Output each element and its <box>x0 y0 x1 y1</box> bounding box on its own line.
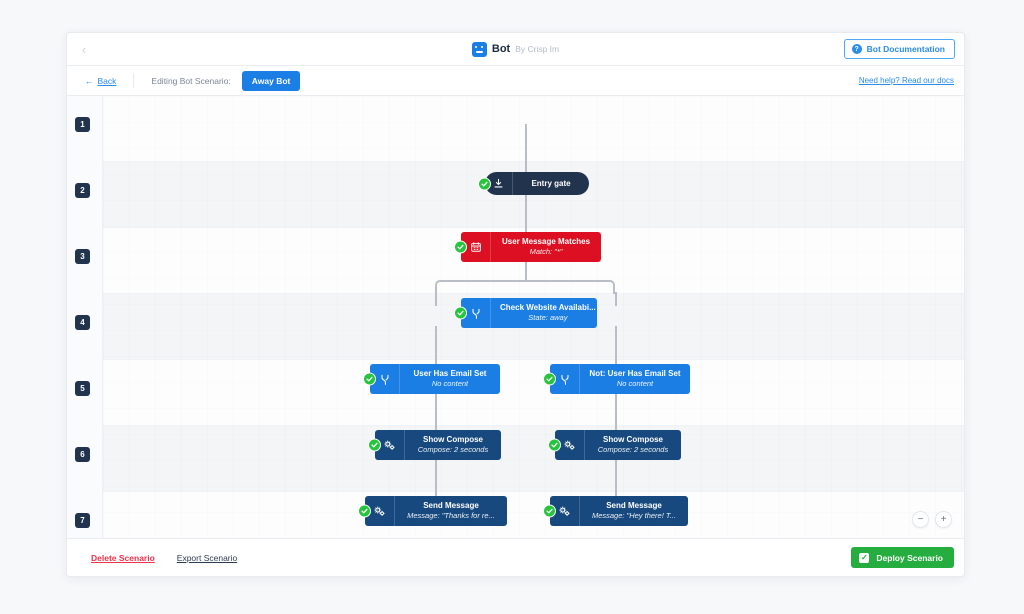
zoom-controls: − + <box>912 511 952 528</box>
row-band-1 <box>67 96 964 162</box>
node-subtitle: Compose: 2 seconds <box>598 445 668 455</box>
editor-footer: Delete Scenario Export Scenario ✓ Deploy… <box>67 538 964 576</box>
bot-documentation-label: Bot Documentation <box>867 44 945 54</box>
node-entry-gate[interactable]: Entry gate <box>485 172 589 195</box>
node-status-check-icon <box>368 439 381 452</box>
step-badge-7: 7 <box>75 513 90 528</box>
step-badge-1: 1 <box>75 117 90 132</box>
vertical-divider <box>133 73 134 88</box>
node-title: User Has Email Set <box>414 369 487 379</box>
node-body: Send Message Message: "Hey there! T... <box>580 496 688 526</box>
node-show-compose-right[interactable]: Show Compose Compose: 2 seconds <box>555 430 681 460</box>
scenario-canvas[interactable]: 1 2 3 4 5 6 7 <box>67 96 964 538</box>
node-subtitle: No content <box>617 379 653 389</box>
node-status-check-icon <box>358 505 371 518</box>
node-not-user-has-email-set[interactable]: Not: User Has Email Set No content <box>550 364 690 394</box>
back-button[interactable]: ← Back <box>85 76 116 86</box>
node-body: Check Website Availabi... State: away <box>491 298 605 328</box>
step-badge-2: 2 <box>75 183 90 198</box>
page-subtitle: By Crisp Im <box>515 44 559 54</box>
scenario-name-chip[interactable]: Away Bot <box>242 71 301 91</box>
step-badge-6: 6 <box>75 447 90 462</box>
zoom-out-button[interactable]: − <box>912 511 929 528</box>
node-title: Entry gate <box>531 179 570 189</box>
export-scenario-link[interactable]: Export Scenario <box>177 553 237 563</box>
node-title: Show Compose <box>423 435 483 445</box>
node-user-has-email-set[interactable]: User Has Email Set No content <box>370 364 500 394</box>
editor-sub-bar: ← Back Editing Bot Scenario: Away Bot Ne… <box>67 66 964 96</box>
node-status-check-icon <box>543 505 556 518</box>
bot-avatar-icon <box>472 42 487 57</box>
bot-scenario-window: ‹ Bot By Crisp Im ? Bot Documentation ← … <box>66 32 965 577</box>
node-body: Show Compose Compose: 2 seconds <box>405 430 501 460</box>
node-body: User Message Matches Match: "*" <box>491 232 601 262</box>
connector-split-left <box>435 292 437 306</box>
arrow-left-icon: ← <box>85 76 94 86</box>
editing-scenario-label: Editing Bot Scenario: <box>151 76 230 86</box>
question-circle-icon: ? <box>852 44 862 54</box>
step-badge-3: 3 <box>75 249 90 264</box>
chevron-left-icon[interactable]: ‹ <box>67 43 101 56</box>
node-subtitle: Message: "Hey there! T... <box>592 511 676 521</box>
step-badge-4: 4 <box>75 315 90 330</box>
help-docs-link[interactable]: Need help? Read our docs <box>859 76 954 85</box>
node-subtitle: Match: "*" <box>530 247 563 257</box>
connector-split-right <box>615 292 617 306</box>
node-status-check-icon <box>478 177 491 190</box>
node-subtitle: Compose: 2 seconds <box>418 445 488 455</box>
node-status-check-icon <box>548 439 561 452</box>
node-show-compose-left[interactable]: Show Compose Compose: 2 seconds <box>375 430 501 460</box>
connector-split-bracket <box>435 280 615 294</box>
node-body: Entry gate <box>513 172 589 195</box>
row-band-5 <box>67 360 964 426</box>
node-body: Show Compose Compose: 2 seconds <box>585 430 681 460</box>
checkbox-icon: ✓ <box>859 553 869 563</box>
node-title: Check Website Availabi... <box>500 303 596 313</box>
node-status-check-icon <box>454 241 467 254</box>
node-subtitle: State: away <box>528 313 567 323</box>
window-title-group: Bot By Crisp Im <box>67 42 964 57</box>
node-body: User Has Email Set No content <box>400 364 500 394</box>
bot-documentation-button[interactable]: ? Bot Documentation <box>844 39 955 59</box>
node-status-check-icon <box>363 373 376 386</box>
node-title: User Message Matches <box>502 237 590 247</box>
node-title: Show Compose <box>603 435 663 445</box>
node-title: Send Message <box>606 501 662 511</box>
page-title: Bot <box>492 43 510 55</box>
node-send-message-left[interactable]: Send Message Message: "Thanks for re... <box>365 496 507 526</box>
node-title: Not: User Has Email Set <box>589 369 680 379</box>
node-status-check-icon <box>454 307 467 320</box>
back-label: Back <box>98 76 117 86</box>
deploy-scenario-button[interactable]: ✓ Deploy Scenario <box>851 547 954 568</box>
node-status-check-icon <box>543 373 556 386</box>
node-body: Send Message Message: "Thanks for re... <box>395 496 507 526</box>
deploy-scenario-label: Deploy Scenario <box>876 553 943 563</box>
node-subtitle: Message: "Thanks for re... <box>407 511 495 521</box>
zoom-in-button[interactable]: + <box>935 511 952 528</box>
node-title: Send Message <box>423 501 479 511</box>
node-subtitle: No content <box>432 379 468 389</box>
node-send-message-right[interactable]: Send Message Message: "Hey there! T... <box>550 496 688 526</box>
connector-3-split <box>525 260 527 280</box>
row-band-6 <box>67 426 964 492</box>
node-body: Not: User Has Email Set No content <box>580 364 690 394</box>
node-check-website-availability[interactable]: Check Website Availabi... State: away <box>461 298 597 328</box>
delete-scenario-link[interactable]: Delete Scenario <box>91 553 155 563</box>
row-band-7 <box>67 492 964 538</box>
node-user-message-matches[interactable]: User Message Matches Match: "*" <box>461 232 601 262</box>
step-badge-5: 5 <box>75 381 90 396</box>
title-bar: ‹ Bot By Crisp Im ? Bot Documentation <box>67 33 964 66</box>
